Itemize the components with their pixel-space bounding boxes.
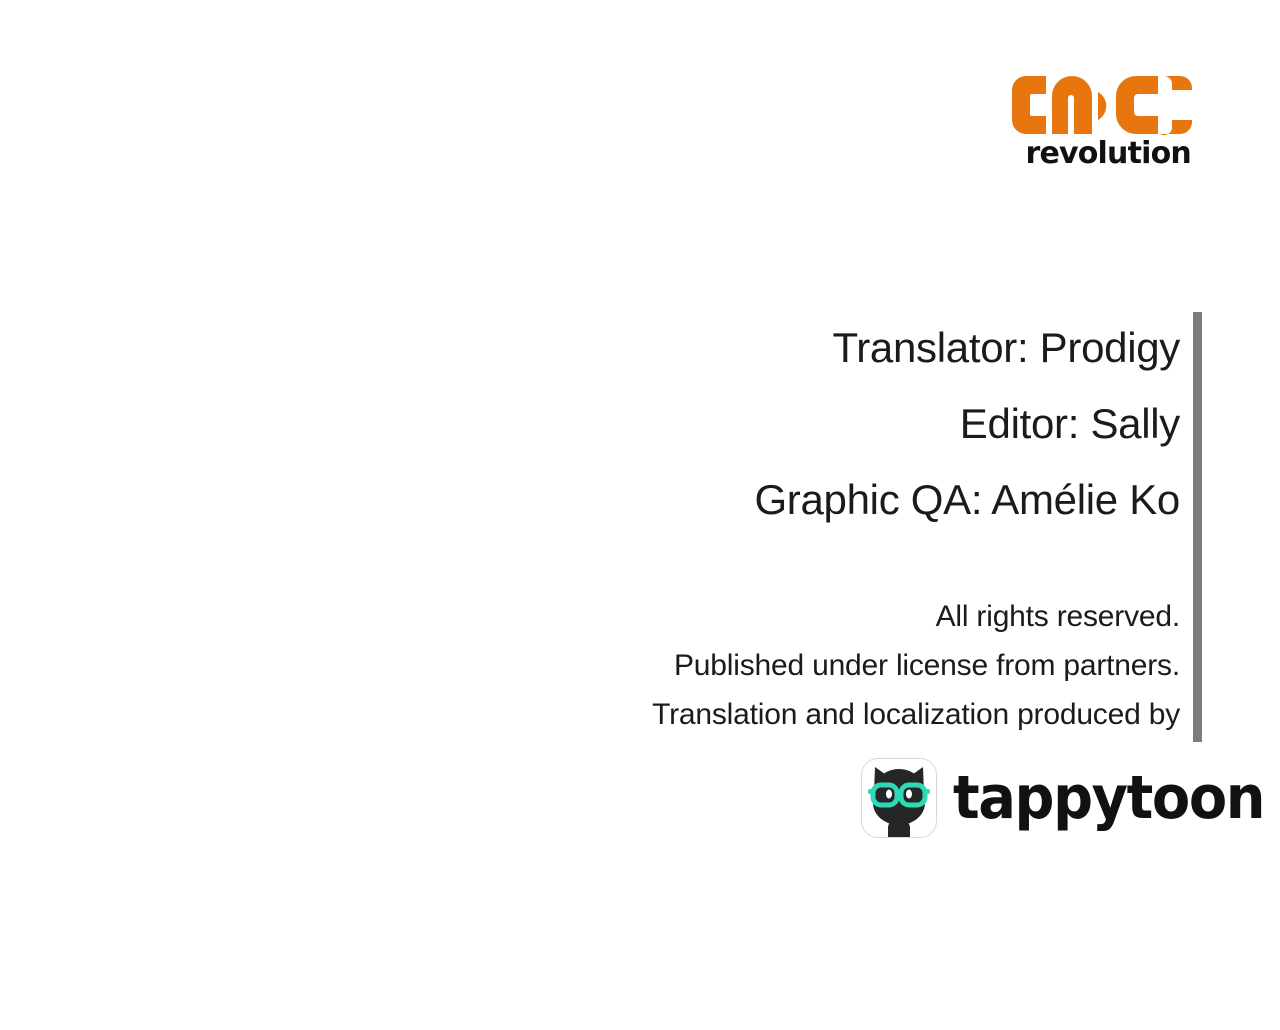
tappytoon-cat-icon <box>861 758 937 838</box>
publisher-logo: revolution <box>1002 74 1192 169</box>
tappytoon-logo: tappytoon <box>861 758 1280 838</box>
tappytoon-wordmark: tappytoon <box>953 768 1264 828</box>
vertical-divider <box>1193 312 1202 742</box>
rights-line-license: Published under license from partners. <box>460 641 1180 690</box>
cnc-wordmark-icon <box>1012 74 1192 136</box>
rights-block: All rights reserved. Published under lic… <box>460 592 1180 739</box>
rights-line-all-rights: All rights reserved. <box>460 592 1180 641</box>
credit-line-editor: Editor: Sally <box>520 386 1180 462</box>
credit-line-translator: Translator: Prodigy <box>520 310 1180 386</box>
rights-line-localization: Translation and localization produced by <box>460 690 1180 739</box>
credit-line-graphic-qa: Graphic QA: Amélie Ko <box>520 462 1180 538</box>
credits-block: Translator: Prodigy Editor: Sally Graphi… <box>520 310 1180 538</box>
publisher-logo-subtitle: revolution <box>1002 139 1191 169</box>
